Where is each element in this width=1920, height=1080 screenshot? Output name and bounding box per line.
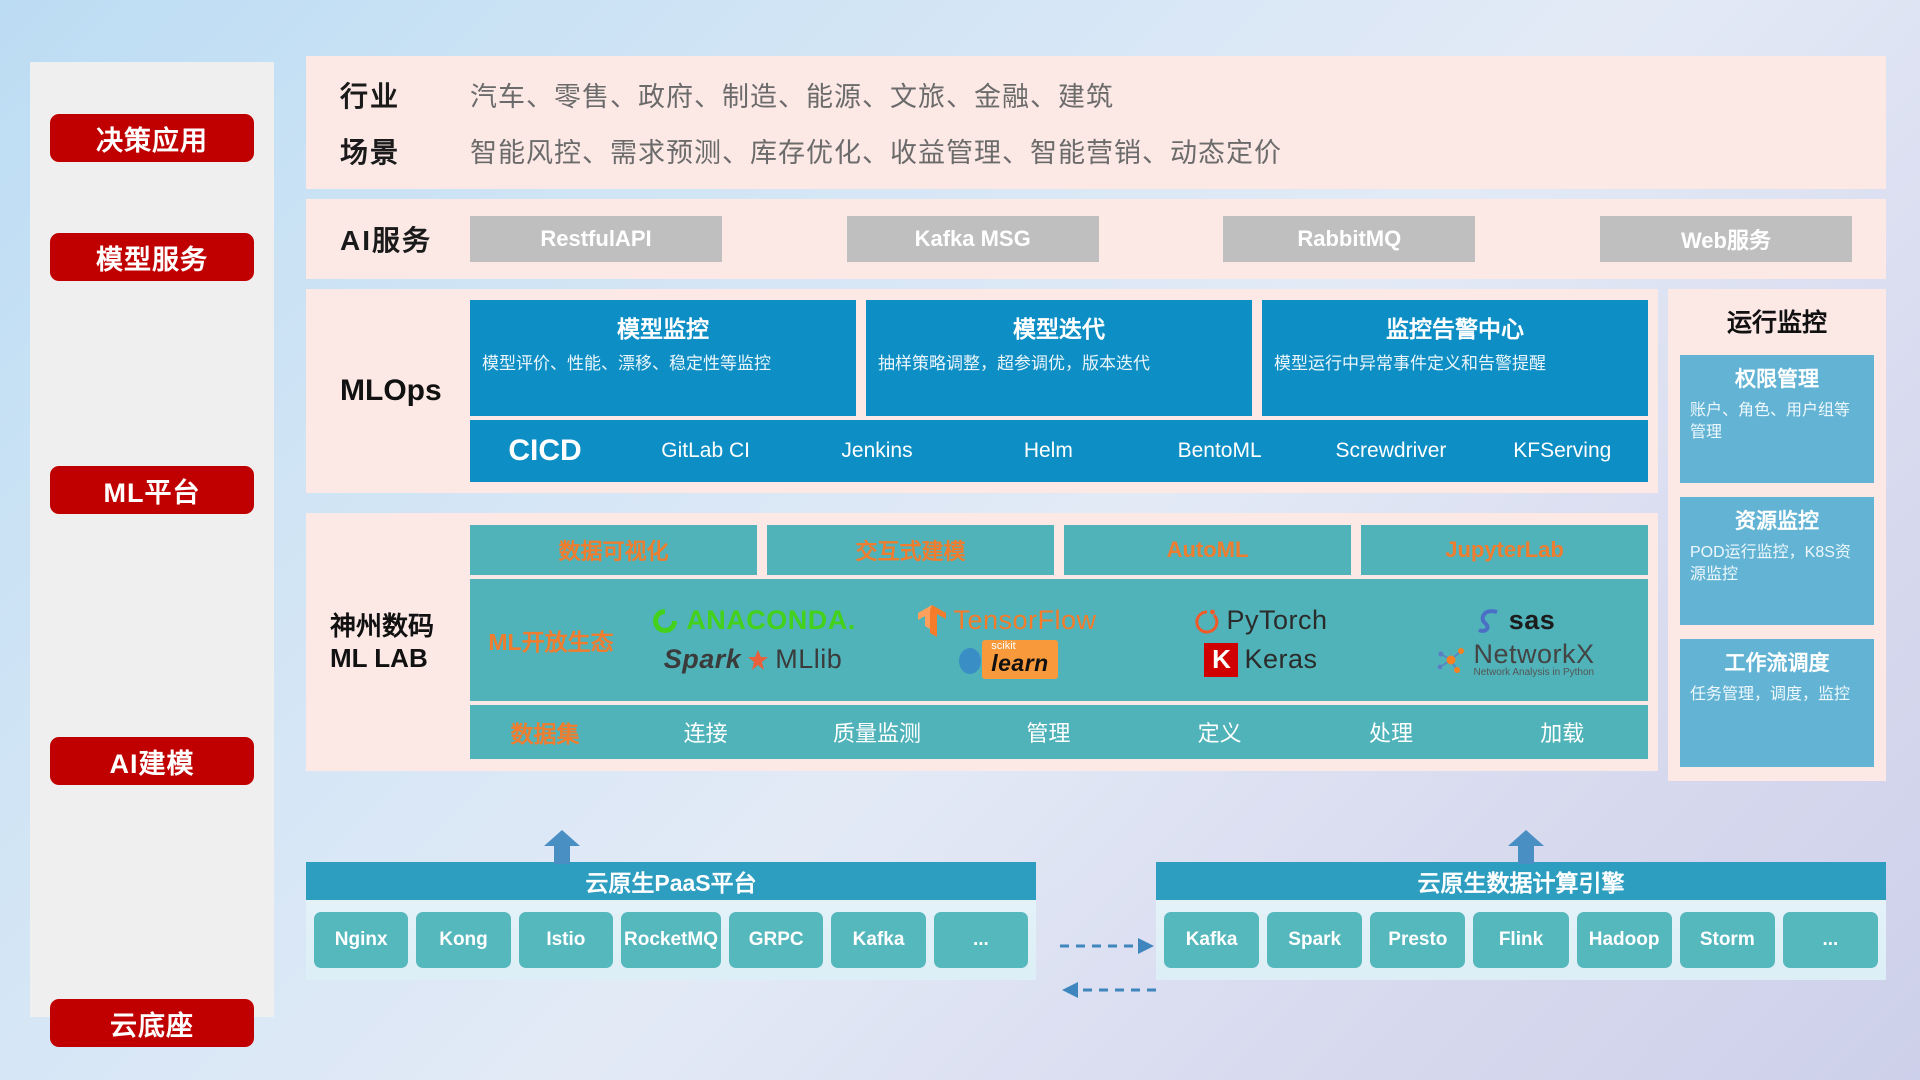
keras-icon: K (1204, 643, 1238, 677)
mlops-card-desc: 抽样策略调整，超参调优，版本迭代 (878, 353, 1240, 376)
cicd-item-bentoml[interactable]: BentoML (1134, 439, 1305, 463)
data-compute-engine-title: 云原生数据计算引擎 (1156, 862, 1886, 900)
cicd-item-helm[interactable]: Helm (963, 439, 1134, 463)
up-arrow-paas-icon (544, 830, 580, 864)
dataset-label: 数据集 (470, 715, 620, 749)
tensorflow-logo: TensorFlow (917, 604, 1096, 638)
networkx-logo-text: NetworkX (1473, 641, 1594, 668)
dataset-item-manage[interactable]: 管理 (963, 716, 1134, 748)
data-compute-engine-block: 云原生数据计算引擎 Kafka Spark Presto Flink Hadoo… (1156, 862, 1886, 1022)
stack-layer-rail: 决策应用 模型服务 ML平台 AI建模 云底座 (30, 62, 274, 1017)
ml-lab-label: 神州数码 ML LAB (330, 610, 470, 675)
cicd-item-gitlab-ci[interactable]: GitLab CI (620, 439, 791, 463)
scenario-values: 智能风控、需求预测、库存优化、收益管理、智能营销、动态定价 (470, 131, 1282, 170)
rail-item-ai-modeling[interactable]: AI建模 (50, 737, 254, 785)
monitor-card-title: 权限管理 (1690, 363, 1864, 393)
industry-scenario-band: 行业 汽车、零售、政府、制造、能源、文旅、金融、建筑 场景 智能风控、需求预测、… (306, 56, 1886, 189)
mlops-card-title: 模型迭代 (878, 310, 1240, 344)
lab-tab-label: JupyterLab (1445, 537, 1564, 563)
mlops-card-desc: 模型评价、性能、漂移、稳定性等监控 (482, 353, 844, 376)
lab-tab-label: 数据可视化 (558, 534, 668, 566)
paas-chip-more[interactable]: ... (934, 912, 1028, 968)
pytorch-logo: PyTorch (1194, 605, 1327, 636)
lab-tab-jupyterlab[interactable]: JupyterLab (1361, 525, 1648, 575)
sas-logo: sas (1475, 605, 1556, 636)
keras-logo-text: Keras (1244, 644, 1317, 675)
mlops-card-title: 监控告警中心 (1274, 310, 1636, 344)
cicd-item-kfserving[interactable]: KFServing (1477, 439, 1648, 463)
networkx-logo: NetworkX Network Analysis in Python (1435, 641, 1594, 678)
lab-tab-label: 交互式建模 (855, 534, 965, 566)
spark-mllib-logo: Spark MLlib (664, 644, 843, 675)
spark-logo-text: Spark (664, 644, 742, 675)
service-chip-label: Kafka MSG (915, 226, 1031, 252)
compute-chip-flink[interactable]: Flink (1473, 912, 1568, 968)
ai-service-label: AI服务 (340, 219, 470, 259)
scikit-learn-logo: scikit learn (956, 640, 1057, 679)
spark-star-icon (747, 649, 769, 671)
monitor-card-desc: POD运行监控，K8S资源监控 (1690, 542, 1864, 585)
sas-icon (1475, 606, 1503, 636)
compute-chip-presto[interactable]: Presto (1370, 912, 1465, 968)
mlops-card-alert-center[interactable]: 监控告警中心 模型运行中异常事件定义和告警提醒 (1262, 300, 1648, 416)
ml-lab-band: 神州数码 ML LAB 数据可视化 交互式建模 AutoML (306, 513, 1658, 771)
mlops-card-title: 模型监控 (482, 310, 844, 344)
monitor-card-permission[interactable]: 权限管理 账户、角色、用户组等管理 (1680, 355, 1874, 483)
rail-item-label: 决策应用 (96, 119, 208, 158)
ml-ecosystem-label: ML开放生态 (476, 623, 626, 657)
paas-chip-nginx[interactable]: Nginx (314, 912, 408, 968)
service-chip-web-service[interactable]: Web服务 (1600, 216, 1852, 262)
monitor-card-title: 工作流调度 (1690, 647, 1864, 677)
service-chip-label: RestfulAPI (540, 226, 651, 252)
paas-chip-kong[interactable]: Kong (416, 912, 510, 968)
monitor-card-desc: 任务管理，调度，监控 (1690, 684, 1864, 706)
anaconda-logo-text: ANACONDA. (686, 605, 856, 636)
compute-chip-kafka[interactable]: Kafka (1164, 912, 1259, 968)
cicd-item-jenkins[interactable]: Jenkins (791, 439, 962, 463)
runtime-monitor-title: 运行监控 (1727, 303, 1827, 339)
compute-chip-storm[interactable]: Storm (1680, 912, 1775, 968)
pytorch-icon (1194, 606, 1220, 636)
dataset-row: 数据集 连接 质量监测 管理 定义 处理 加载 (470, 705, 1648, 759)
scenario-row: 场景 智能风控、需求预测、库存优化、收益管理、智能营销、动态定价 (340, 131, 1886, 171)
lab-tab-automl[interactable]: AutoML (1064, 525, 1351, 575)
architecture-main-column: 行业 汽车、零售、政府、制造、能源、文旅、金融、建筑 场景 智能风控、需求预测、… (306, 56, 1886, 781)
service-chip-label: Web服务 (1681, 223, 1771, 255)
cicd-item-screwdriver[interactable]: Screwdriver (1305, 439, 1476, 463)
keras-logo: K Keras (1204, 643, 1317, 677)
service-chip-rabbitmq[interactable]: RabbitMQ (1223, 216, 1475, 262)
networkx-logo-subtext: Network Analysis in Python (1473, 668, 1594, 678)
monitor-card-title: 资源监控 (1690, 505, 1864, 535)
lab-tab-label: AutoML (1167, 537, 1249, 563)
networkx-icon (1435, 645, 1467, 675)
mlops-card-model-iteration[interactable]: 模型迭代 抽样策略调整，超参调优，版本迭代 (866, 300, 1252, 416)
ai-service-band: AI服务 RestfulAPI Kafka MSG RabbitMQ Web服务 (306, 199, 1886, 279)
mlops-label: MLOps (340, 374, 470, 408)
cicd-label: CICD (470, 434, 620, 468)
mllib-logo-text: MLlib (775, 644, 842, 675)
mlops-card-desc: 模型运行中异常事件定义和告警提醒 (1274, 353, 1636, 376)
dataset-item-quality-monitor[interactable]: 质量监测 (791, 716, 962, 748)
mlops-band: MLOps 模型监控 模型评价、性能、漂移、稳定性等监控 模型迭代 抽样策略调整… (306, 289, 1658, 493)
paas-platform-block: 云原生PaaS平台 Nginx Kong Istio RocketMQ GRPC… (306, 862, 1036, 1022)
service-chip-restfulapi[interactable]: RestfulAPI (470, 216, 722, 262)
paas-chip-istio[interactable]: Istio (519, 912, 613, 968)
tensorflow-icon (917, 604, 947, 638)
scikit-learn-logo-text: learn (991, 650, 1048, 676)
rail-item-ml-platform[interactable]: ML平台 (50, 466, 254, 514)
ml-lab-label-line1: 神州数码 (330, 610, 470, 643)
rail-item-label: ML平台 (104, 471, 201, 510)
industry-label: 行业 (340, 75, 470, 115)
monitor-card-desc: 账户、角色、用户组等管理 (1690, 400, 1864, 443)
cicd-bar: CICD GitLab CI Jenkins Helm BentoML Scre… (470, 420, 1648, 482)
monitor-card-resource[interactable]: 资源监控 POD运行监控，K8S资源监控 (1680, 497, 1874, 625)
pytorch-logo-text: PyTorch (1226, 605, 1327, 636)
compute-chip-hadoop[interactable]: Hadoop (1577, 912, 1672, 968)
tensorflow-logo-text: TensorFlow (953, 605, 1096, 636)
monitor-card-workflow[interactable]: 工作流调度 任务管理，调度，监控 (1680, 639, 1874, 767)
ml-ecosystem-row: ML开放生态 ANACONDA. (470, 579, 1648, 701)
rail-item-label: 云底座 (110, 1004, 194, 1043)
up-arrow-compute-icon (1508, 830, 1544, 864)
paas-platform-title: 云原生PaaS平台 (306, 862, 1036, 900)
dataset-item-connect[interactable]: 连接 (620, 716, 791, 748)
paas-chip-rocketmq[interactable]: RocketMQ (621, 912, 721, 968)
mlops-card-model-monitoring[interactable]: 模型监控 模型评价、性能、漂移、稳定性等监控 (470, 300, 856, 416)
rail-item-label: AI建模 (110, 742, 195, 781)
dataset-item-define[interactable]: 定义 (1134, 716, 1305, 748)
industry-values: 汽车、零售、政府、制造、能源、文旅、金融、建筑 (470, 75, 1114, 114)
anaconda-logo: ANACONDA. (650, 605, 856, 636)
paas-chip-grpc[interactable]: GRPC (729, 912, 823, 968)
service-chip-kafka-msg[interactable]: Kafka MSG (847, 216, 1099, 262)
compute-chip-more[interactable]: ... (1783, 912, 1878, 968)
sas-logo-text: sas (1509, 605, 1556, 636)
connector-arrows-icon (1058, 932, 1158, 1008)
paas-chip-kafka[interactable]: Kafka (831, 912, 925, 968)
rail-item-cloud-base[interactable]: 云底座 (50, 999, 254, 1047)
rail-item-model-service[interactable]: 模型服务 (50, 233, 254, 281)
dataset-item-load[interactable]: 加载 (1477, 716, 1648, 748)
compute-chip-spark[interactable]: Spark (1267, 912, 1362, 968)
rail-item-label: 模型服务 (96, 238, 208, 277)
ml-lab-label-line2: ML LAB (330, 642, 470, 675)
lab-tab-interactive-modeling[interactable]: 交互式建模 (767, 525, 1054, 575)
bidirectional-connector-arrows (1058, 932, 1158, 1008)
dataset-item-process[interactable]: 处理 (1305, 716, 1476, 748)
runtime-monitor-panel: 运行监控 权限管理 账户、角色、用户组等管理 资源监控 POD运行监控，K8S资… (1668, 289, 1886, 781)
lab-tab-data-visualization[interactable]: 数据可视化 (470, 525, 757, 575)
anaconda-icon (650, 606, 680, 636)
service-chip-label: RabbitMQ (1297, 226, 1401, 252)
scenario-label: 场景 (340, 131, 470, 171)
rail-item-decision-app[interactable]: 决策应用 (50, 114, 254, 162)
industry-row: 行业 汽车、零售、政府、制造、能源、文旅、金融、建筑 (340, 75, 1886, 115)
